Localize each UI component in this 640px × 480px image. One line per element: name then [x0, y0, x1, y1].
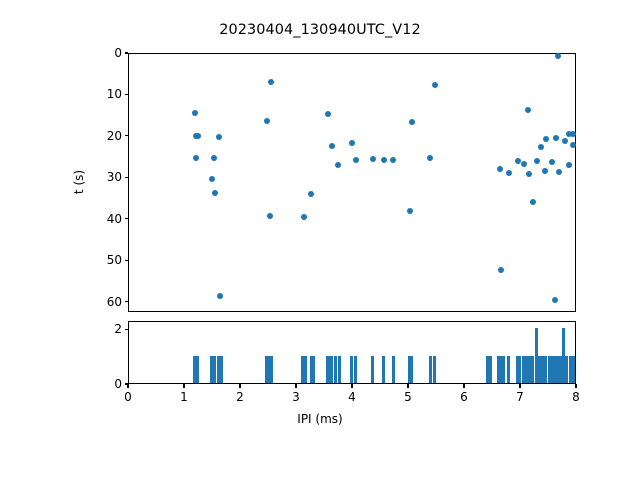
histogram-bar [304, 356, 307, 383]
scatter-y-tick [125, 94, 129, 95]
histogram-bar [544, 356, 547, 383]
histogram-bar [270, 356, 273, 383]
scatter-point [264, 118, 270, 124]
histogram-bar [350, 356, 353, 383]
x-axis-tick [519, 384, 520, 388]
scatter-point [325, 111, 331, 117]
scatter-point [308, 191, 314, 197]
scatter-point [192, 110, 198, 116]
scatter-y-tick-label: 40 [107, 212, 122, 226]
scatter-point [335, 162, 341, 168]
histogram-bar [433, 356, 436, 383]
histogram-bar [334, 356, 337, 383]
x-axis-tick-label: 0 [124, 390, 132, 404]
scatter-point [570, 131, 576, 137]
scatter-point [195, 133, 201, 139]
x-axis-tick-label: 7 [516, 390, 524, 404]
x-axis-label: IPI (ms) [0, 412, 640, 426]
figure-canvas: 20230404_130940UTC_V12 t (s) IPI (ms) 01… [0, 0, 640, 480]
scatter-point [217, 293, 223, 299]
histogram-bar [354, 356, 357, 383]
histogram-bar [507, 356, 510, 383]
scatter-point [390, 157, 396, 163]
x-axis-tick-label: 8 [572, 390, 580, 404]
scatter-y-tick [125, 135, 129, 136]
histogram-bar [196, 356, 199, 383]
hist-y-tick-label: 0 [114, 377, 122, 391]
scatter-y-tick [125, 52, 129, 53]
scatter-point [409, 119, 415, 125]
scatter-y-tick-label: 20 [107, 129, 122, 143]
x-axis-tick-label: 1 [180, 390, 188, 404]
scatter-point [193, 155, 199, 161]
scatter-y-tick-label: 10 [107, 87, 122, 101]
histogram-bar [429, 356, 432, 383]
scatter-y-tick-label: 60 [107, 295, 122, 309]
scatter-y-tick [125, 301, 129, 302]
histogram-bar [312, 356, 315, 383]
histogram-bar [531, 356, 534, 383]
histogram-bar [213, 356, 216, 383]
scatter-point [530, 199, 536, 205]
histogram-bar [338, 356, 341, 383]
scatter-point [212, 190, 218, 196]
histogram-bar [392, 356, 395, 383]
scatter-point [216, 134, 222, 140]
x-axis-tick [407, 384, 408, 388]
hist-y-tick [125, 329, 129, 330]
scatter-point [542, 168, 548, 174]
scatter-point [570, 142, 576, 148]
scatter-point [353, 157, 359, 163]
scatter-point [534, 158, 540, 164]
hist-y-tick-label: 2 [114, 322, 122, 336]
histogram-bar [502, 356, 505, 383]
x-axis-tick-label: 5 [404, 390, 412, 404]
x-axis-tick [463, 384, 464, 388]
scatter-point [498, 267, 504, 273]
scatter-point [525, 107, 531, 113]
x-axis-tick [575, 384, 576, 388]
hist-y-tick [125, 383, 129, 384]
scatter-point [301, 214, 307, 220]
scatter-point [555, 53, 561, 59]
scatter-point [432, 82, 438, 88]
scatter-plot-axes [128, 53, 576, 312]
histogram-bar [220, 356, 223, 383]
scatter-point [268, 79, 274, 85]
scatter-point [349, 140, 355, 146]
histogram-bar [572, 356, 575, 383]
scatter-point [370, 156, 376, 162]
scatter-point [497, 166, 503, 172]
scatter-point [553, 135, 559, 141]
scatter-point [211, 155, 217, 161]
scatter-y-tick-label: 0 [114, 46, 122, 60]
scatter-y-tick [125, 177, 129, 178]
scatter-point [515, 158, 521, 164]
x-axis-tick-label: 4 [348, 390, 356, 404]
x-axis-tick [351, 384, 352, 388]
scatter-point [549, 159, 555, 165]
scatter-y-tick-label: 30 [107, 170, 122, 184]
scatter-y-tick [125, 218, 129, 219]
scatter-point [552, 297, 558, 303]
x-axis-tick [239, 384, 240, 388]
histogram-bar [489, 356, 492, 383]
x-axis-tick-label: 3 [292, 390, 300, 404]
scatter-point [329, 143, 335, 149]
x-axis-tick-label: 2 [236, 390, 244, 404]
x-axis-tick-label: 6 [460, 390, 468, 404]
scatter-point [521, 161, 527, 167]
histogram-bar [518, 356, 521, 383]
scatter-point [566, 162, 572, 168]
scatter-y-tick-label: 50 [107, 253, 122, 267]
scatter-point [209, 176, 215, 182]
scatter-point [556, 169, 562, 175]
x-axis-tick [183, 384, 184, 388]
scatter-y-tick [125, 260, 129, 261]
y-axis-label: t (s) [72, 170, 86, 194]
x-axis-tick [295, 384, 296, 388]
figure-title: 20230404_130940UTC_V12 [0, 22, 640, 38]
scatter-point [506, 170, 512, 176]
histogram-bar [410, 356, 413, 383]
histogram-bar [382, 356, 385, 383]
scatter-point [407, 208, 413, 214]
scatter-point [538, 144, 544, 150]
histogram-bar [562, 328, 565, 383]
scatter-point [526, 171, 532, 177]
scatter-point [543, 136, 549, 142]
histogram-bar [371, 356, 374, 383]
histogram-axes [128, 321, 576, 384]
scatter-point [427, 155, 433, 161]
scatter-point [381, 157, 387, 163]
scatter-point [267, 213, 273, 219]
scatter-point [562, 138, 568, 144]
